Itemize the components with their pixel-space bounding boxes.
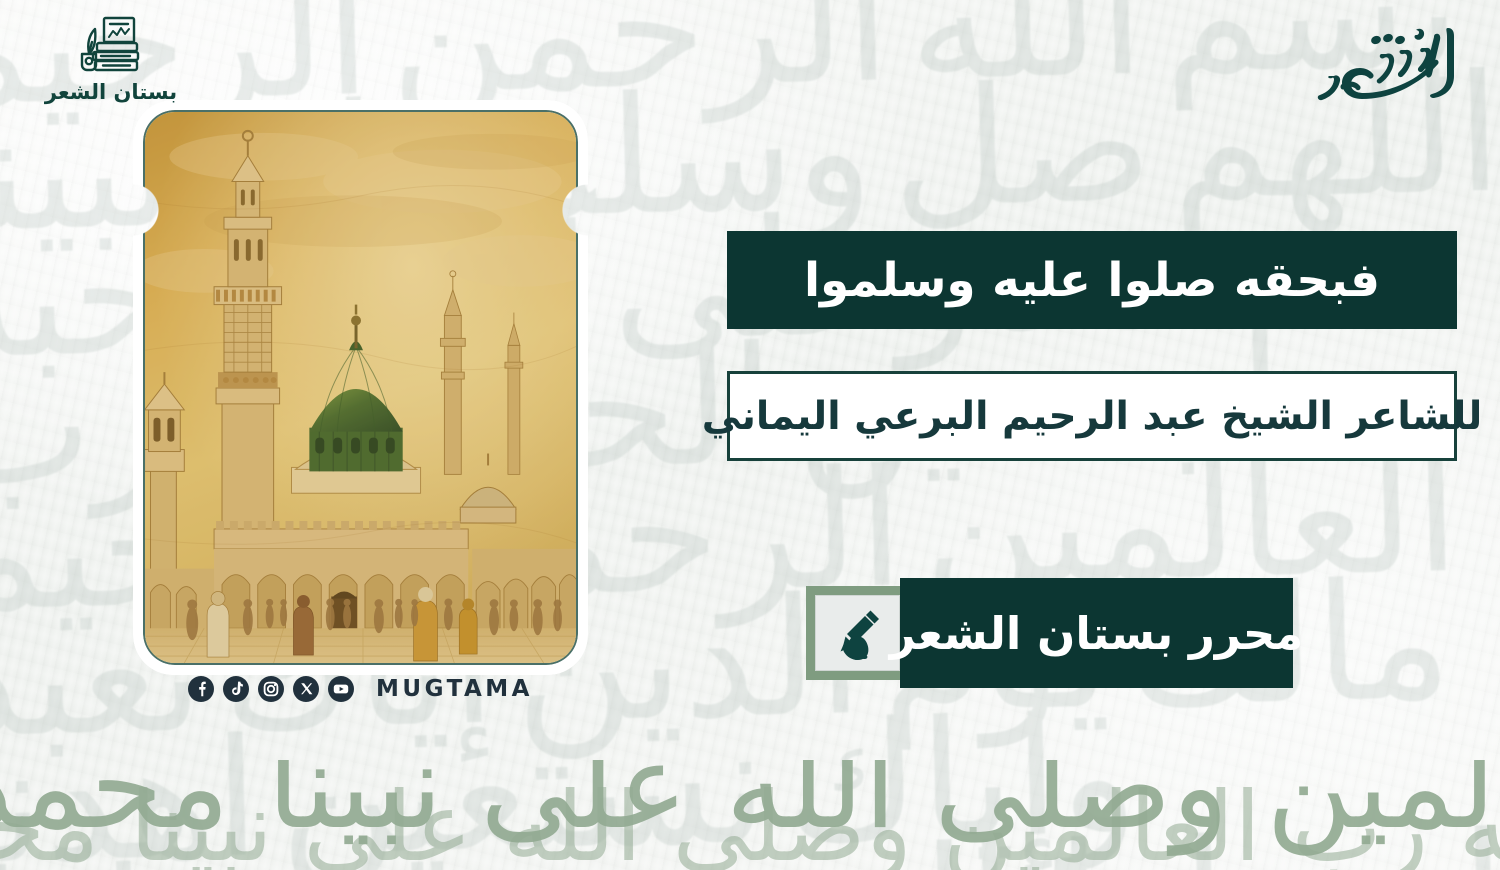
hand-writing-pen-icon (829, 604, 887, 662)
poem-title: فبحقه صلوا عليه وسلموا (804, 253, 1380, 308)
band-text-line-2: صلى الله على سيدنا محمد وعلى آله وصحبه و… (0, 782, 1500, 870)
facebook-icon[interactable] (188, 676, 214, 702)
photo-card (133, 100, 588, 675)
publisher-wordmark[interactable] (1298, 10, 1478, 115)
poster-canvas: بسم الله الرحمن الرحيم اللهم صل وسلم على… (0, 0, 1500, 870)
bottom-calligraphy-band: صلى الله على سيدنا محمد وعلى آله وصحبه و… (0, 760, 1500, 870)
author-name: محرر بستان الشعر (890, 607, 1303, 660)
social-links[interactable]: MUGTAMA (133, 676, 588, 702)
prophets-mosque-illustration (145, 112, 576, 663)
mujtama-calligraphy-logo (1298, 10, 1478, 115)
tiktok-icon[interactable] (223, 676, 249, 702)
author-icon-inner (815, 595, 900, 671)
x-twitter-icon[interactable] (293, 676, 319, 702)
social-handle-label: MUGTAMA (376, 676, 533, 702)
photo-card-image (143, 110, 578, 665)
poet-attribution: للشاعر الشيخ عبد الرحيم البرعي اليماني (702, 394, 1483, 439)
books-quill-icon (74, 16, 148, 76)
poem-title-box: فبحقه صلوا عليه وسلموا (727, 231, 1457, 329)
author-name-box: محرر بستان الشعر (900, 578, 1293, 688)
poet-attribution-box: للشاعر الشيخ عبد الرحيم البرعي اليماني (727, 371, 1457, 461)
brand-logo[interactable]: بستان الشعر (26, 16, 196, 104)
youtube-icon[interactable] (328, 676, 354, 702)
brand-name-label: بستان الشعر (26, 80, 196, 104)
instagram-icon[interactable] (258, 676, 284, 702)
